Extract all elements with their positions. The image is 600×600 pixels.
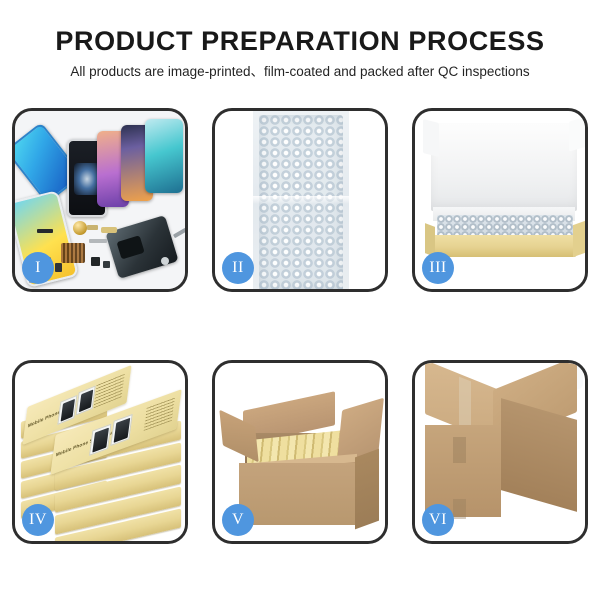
chip-grid-part-icon	[61, 243, 85, 263]
process-steps-grid: I II III	[12, 108, 588, 544]
step-badge-3: III	[422, 252, 454, 284]
step-badge-1: I	[22, 252, 54, 284]
carton-tape-front-upper-icon	[453, 437, 466, 463]
step-badge-5: V	[222, 504, 254, 536]
spare-part-module-icon	[91, 257, 100, 266]
step-badge-4: IV	[22, 504, 54, 536]
box-artwork-textlines	[94, 374, 125, 409]
page-header: PRODUCT PREPARATION PROCESS All products…	[0, 0, 600, 81]
step-panel-6[interactable]: VI	[412, 360, 588, 544]
box-artwork-screen-icon	[57, 395, 77, 425]
spare-part-flex-cable-icon	[89, 239, 107, 243]
spare-part-block-icon	[103, 261, 110, 268]
page-title: PRODUCT PREPARATION PROCESS	[0, 26, 600, 56]
step-badge-2: II	[222, 252, 254, 284]
step-panel-2[interactable]: II	[212, 108, 388, 292]
spare-part-small-icon	[55, 263, 62, 272]
page-subtitle: All products are image-printed、film-coat…	[0, 63, 600, 81]
carton-body-icon	[239, 463, 357, 525]
bubble-wrap-sheet-icon	[253, 111, 349, 289]
inner-box-lid-icon	[431, 123, 577, 211]
step-badge-6: VI	[422, 504, 454, 536]
step-panel-1[interactable]: I	[12, 108, 188, 292]
inner-box-tray-icon	[431, 235, 577, 257]
spare-part-gold-contact-icon	[101, 227, 117, 233]
inner-bubble-wrap-icon	[437, 215, 573, 237]
carton-tape-front-lower-icon	[453, 499, 466, 519]
box-artwork-textlines	[144, 398, 175, 431]
spare-part-screw-icon	[161, 257, 169, 265]
spare-part-strip-icon	[37, 229, 53, 233]
box-artwork-screen-icon	[89, 424, 111, 456]
box-artwork-screen-icon	[76, 385, 96, 415]
spare-part-gold-clip-icon	[87, 225, 98, 230]
box-artwork-screen-icon	[110, 414, 132, 446]
camera-lens-part-icon	[73, 221, 87, 235]
step-panel-3[interactable]: III	[412, 108, 588, 292]
phone-screen-teal-icon	[145, 119, 183, 193]
step-panel-4[interactable]: Mobile Phone Spare Parts Mobile Phone Sp…	[12, 360, 188, 544]
step-panel-5[interactable]: V	[212, 360, 388, 544]
bubble-pattern-icon	[259, 115, 343, 289]
